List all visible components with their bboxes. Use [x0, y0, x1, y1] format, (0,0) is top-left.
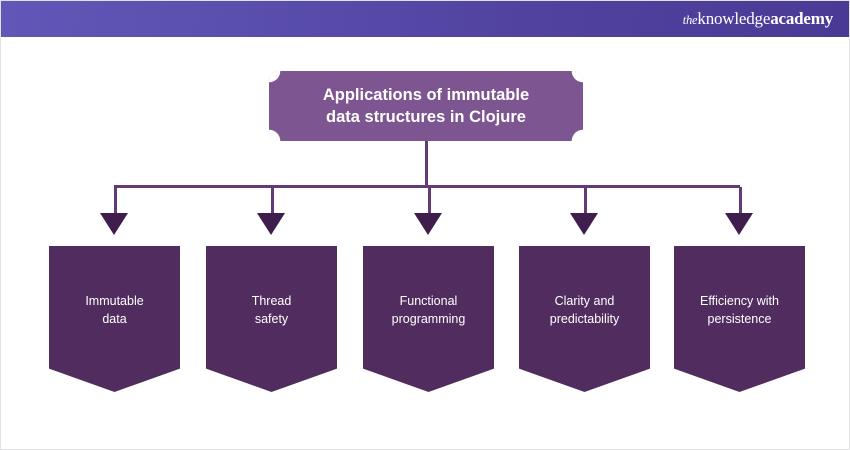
node-label: Immutable data	[77, 292, 151, 328]
diagram-page: theknowledgeacademy Applications of immu…	[0, 0, 850, 450]
arrow-down-icon-4	[570, 213, 598, 235]
node-efficiency-persistence: Efficiency with persistence	[674, 246, 805, 392]
node-immutable-data: Immutable data	[49, 246, 180, 392]
connector-main-stem	[425, 141, 428, 187]
arrow-down-icon-2	[257, 213, 285, 235]
node-functional-programming: Functional programming	[363, 246, 494, 392]
node-label: Thread safety	[244, 292, 300, 328]
node-label: Clarity and predictability	[542, 292, 627, 328]
diagram-canvas: Applications of immutable data structure…	[1, 37, 850, 450]
brand-logo: theknowledgeacademy	[683, 9, 833, 29]
diagram-title-node: Applications of immutable data structure…	[269, 71, 583, 141]
page-title: Applications of immutable data structure…	[307, 84, 545, 129]
brand-suffix: academy	[770, 9, 833, 28]
brand-middle: knowledge	[697, 9, 770, 28]
arrow-down-icon-3	[414, 213, 442, 235]
node-thread-safety: Thread safety	[206, 246, 337, 392]
connector-horizontal-bus	[114, 185, 740, 188]
header-bar: theknowledgeacademy	[1, 1, 850, 37]
node-label: Efficiency with persistence	[692, 292, 787, 328]
arrow-down-icon-1	[100, 213, 128, 235]
arrow-down-icon-5	[725, 213, 753, 235]
node-clarity-predictability: Clarity and predictability	[519, 246, 650, 392]
brand-prefix: the	[683, 13, 698, 27]
node-label: Functional programming	[384, 292, 474, 328]
